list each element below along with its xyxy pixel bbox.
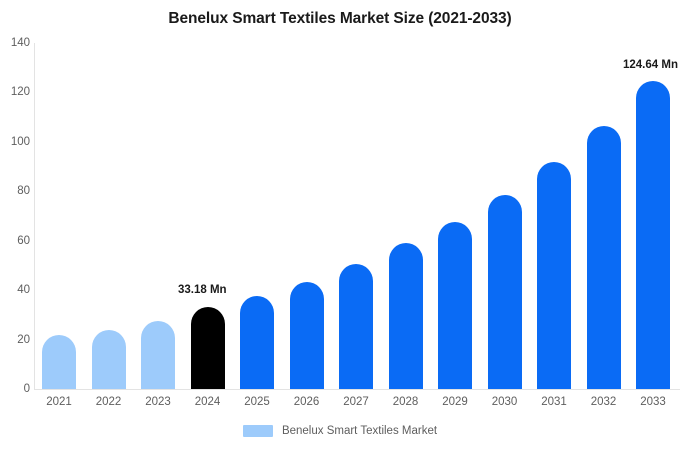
x-tick-label-2027: 2027 (330, 396, 382, 408)
bar-chart: Benelux Smart Textiles Market Size (2021… (0, 0, 680, 450)
value-label-2033: 124.64 Mn (623, 59, 678, 71)
x-tick-label-2022: 2022 (83, 396, 135, 408)
x-tick-label-2025: 2025 (231, 396, 283, 408)
x-tick-label-2032: 2032 (578, 396, 630, 408)
value-label-2024: 33.18 Mn (178, 284, 227, 296)
x-axis: 2021 2022 2023 2024 2025 2026 2027 2028 … (0, 0, 680, 450)
x-tick-label-2021: 2021 (33, 396, 85, 408)
x-tick-label-2033: 2033 (627, 396, 679, 408)
legend-label: Benelux Smart Textiles Market (282, 425, 437, 437)
x-tick-label-2031: 2031 (528, 396, 580, 408)
x-tick-label-2023: 2023 (132, 396, 184, 408)
x-tick-label-2030: 2030 (479, 396, 531, 408)
chart-legend: Benelux Smart Textiles Market (0, 425, 680, 437)
x-tick-label-2029: 2029 (429, 396, 481, 408)
x-tick-label-2024: 2024 (182, 396, 234, 408)
legend-swatch (243, 425, 273, 437)
x-tick-label-2026: 2026 (281, 396, 333, 408)
x-tick-label-2028: 2028 (380, 396, 432, 408)
